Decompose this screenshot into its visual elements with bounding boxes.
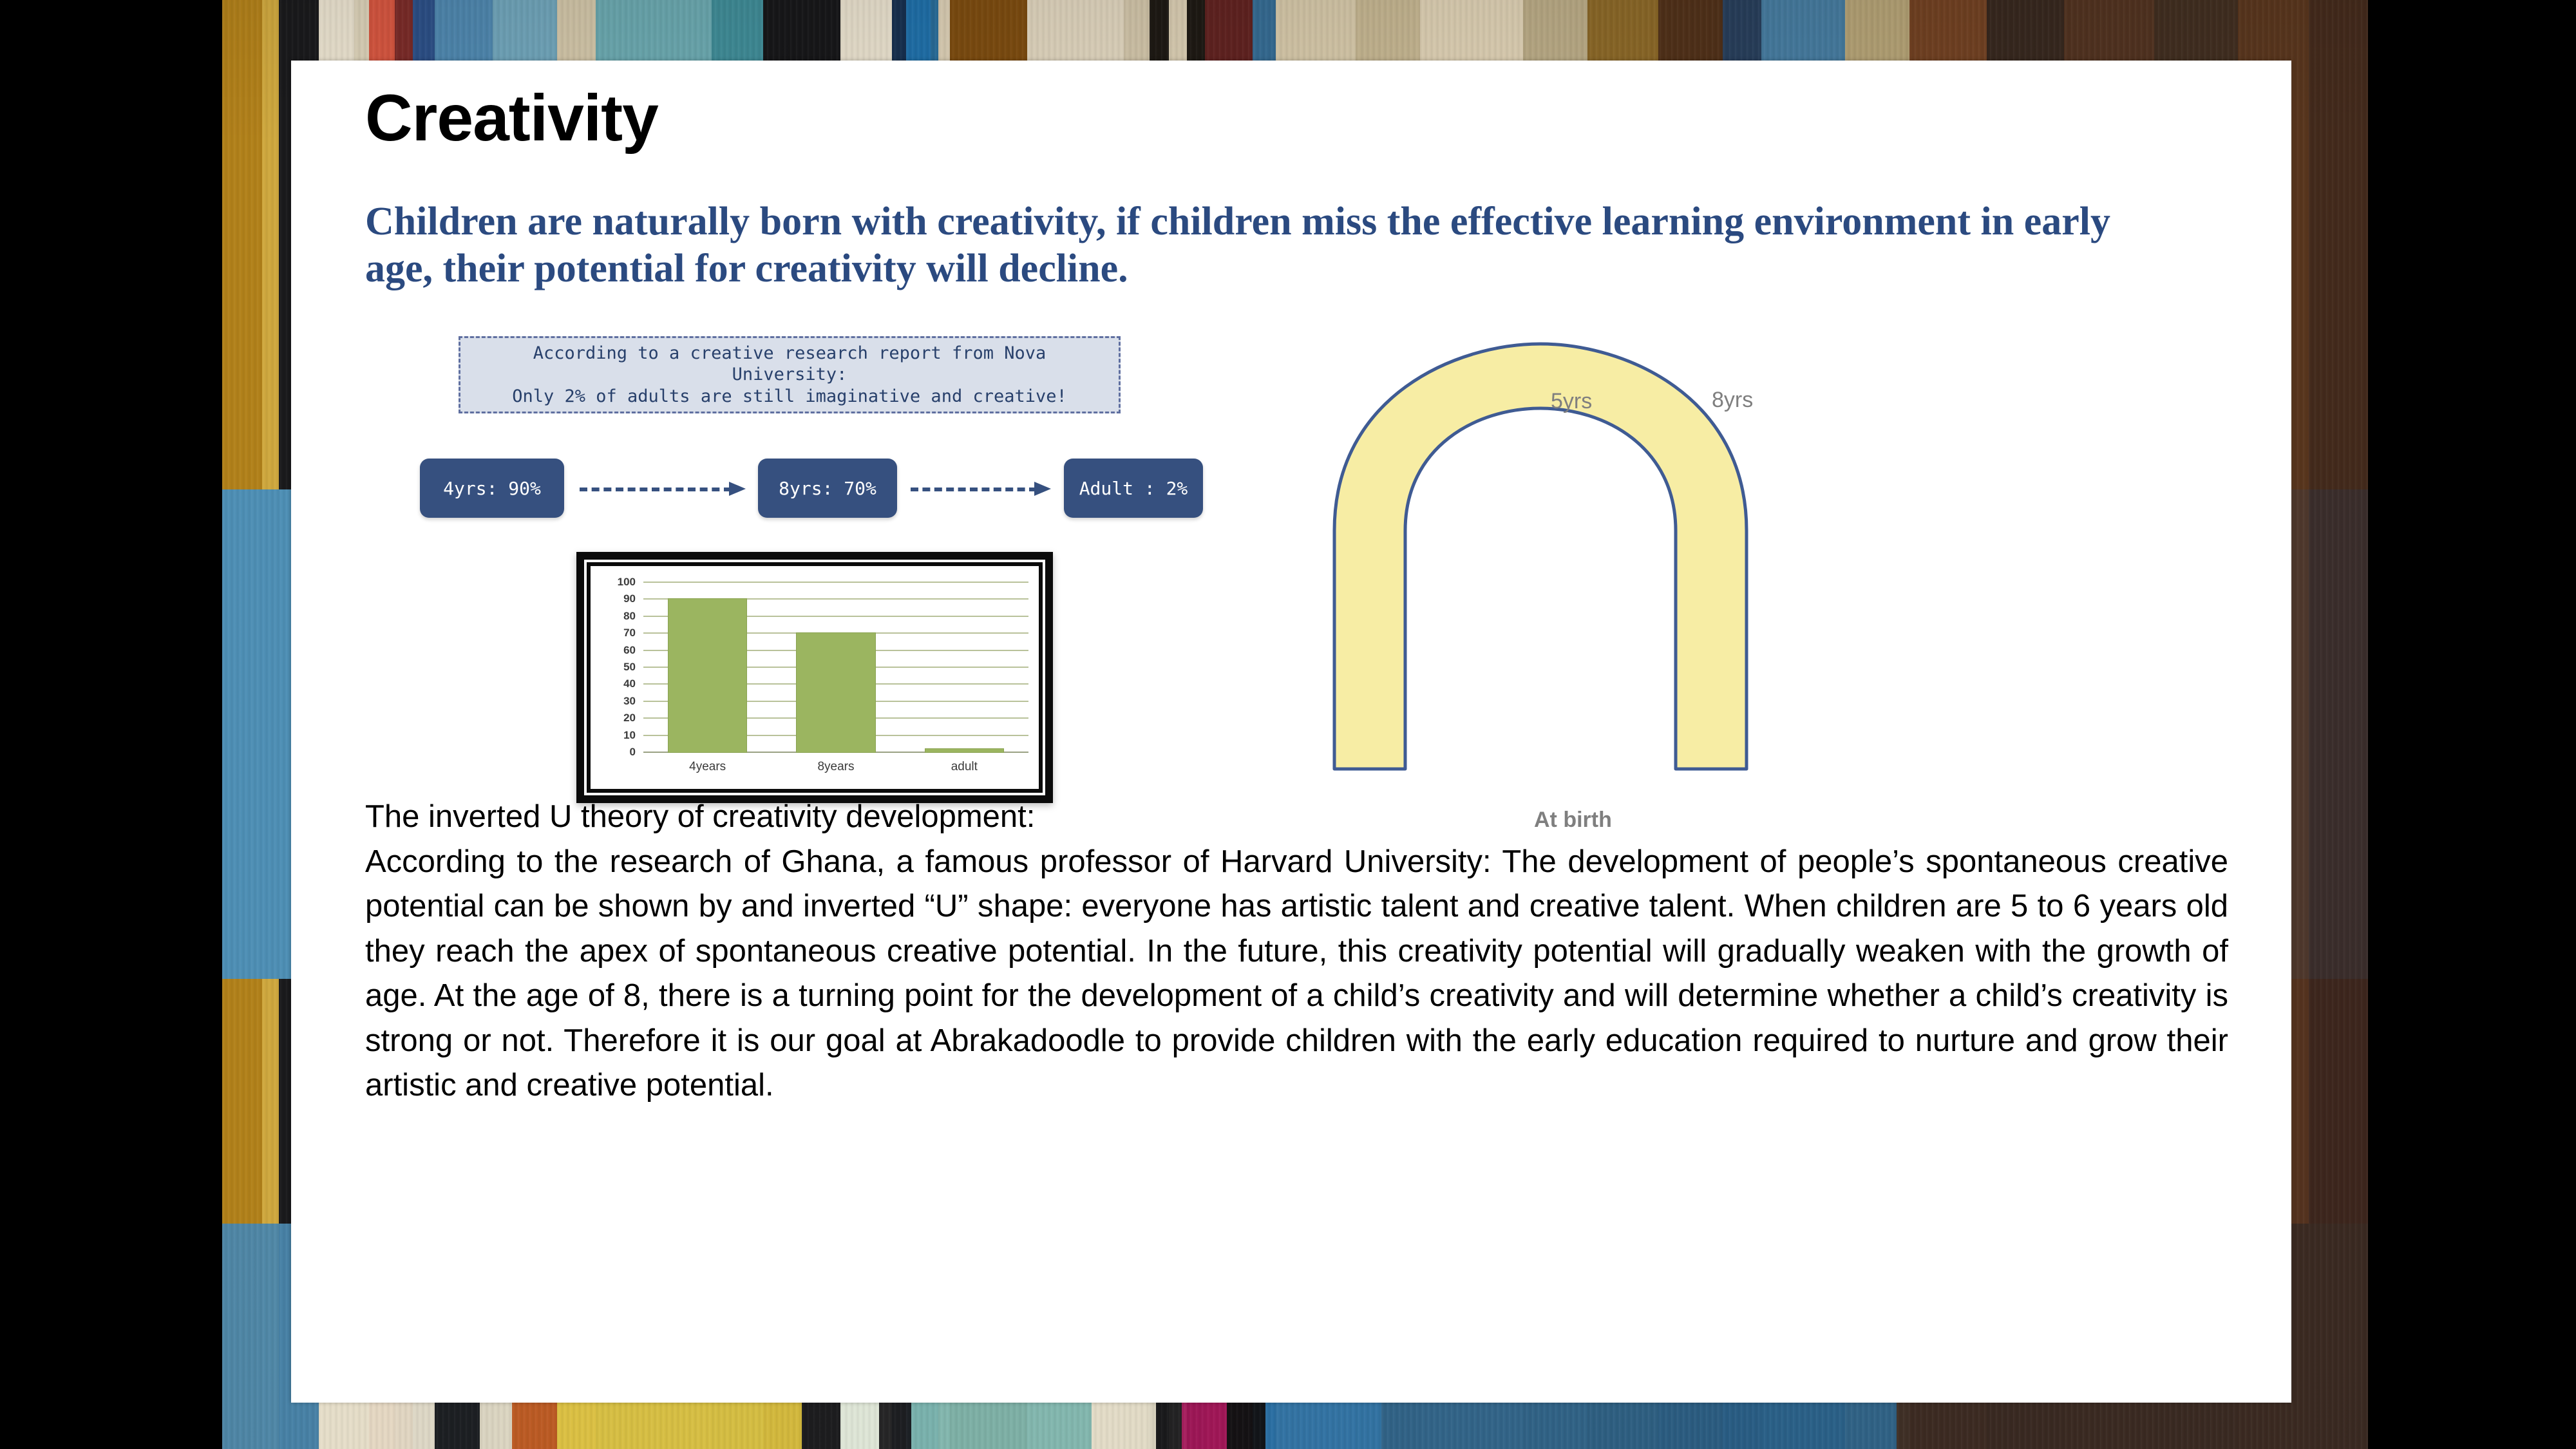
flow-chip-adult[interactable]: Adult : 2%: [1064, 459, 1203, 518]
callout-line-2: University:: [732, 364, 848, 385]
chart-y-tick-label: 20: [623, 712, 636, 724]
callout-line-1: According to a creative research report …: [533, 343, 1046, 364]
slide-subtitle: Children are naturally born with creativ…: [365, 198, 2117, 292]
arch-label-5yrs: 5yrs: [1551, 389, 1592, 414]
slide-stage: Creativity Children are naturally born w…: [0, 0, 2576, 1449]
chart-gridlines: 10090807060504030201004years8yearsadult: [643, 583, 1028, 753]
arrow-right-dashed-icon-2: [911, 482, 1051, 496]
bar-chart: 10090807060504030201004years8yearsadult: [576, 552, 1053, 803]
slide-canvas: Creativity Children are naturally born w…: [291, 61, 2291, 1403]
chart-x-tick-label: 8years: [817, 760, 854, 774]
research-callout-box: According to a creative research report …: [459, 336, 1121, 413]
chart-x-tick-label: adult: [951, 760, 978, 774]
arrow-head: [729, 482, 746, 496]
creativity-decline-flow: 4yrs: 90% 8yrs: 70% Adult : 2%: [420, 459, 1257, 518]
chart-y-tick-label: 100: [618, 576, 636, 589]
inverted-u-diagram: 5yrs 8yrs At birth: [1296, 318, 1785, 808]
arrow-shaft: [580, 488, 732, 491]
chart-y-tick-label: 40: [623, 677, 636, 690]
chart-bar: 4years: [668, 598, 748, 753]
arch-label-8yrs: 8yrs: [1712, 388, 1753, 413]
chart-y-tick-label: 80: [623, 610, 636, 623]
chart-y-tick-label: 10: [623, 729, 636, 742]
body-main-text: According to the research of Ghana, a fa…: [365, 844, 2228, 1103]
flow-chip-4yrs[interactable]: 4yrs: 90%: [420, 459, 564, 518]
chart-x-tick-label: 4years: [689, 760, 726, 774]
arch-shape: [1334, 344, 1747, 769]
chart-gridline: 100: [643, 582, 1028, 583]
chart-plot-area: 10090807060504030201004years8yearsadult: [591, 566, 1039, 789]
chart-y-tick-label: 70: [623, 627, 636, 639]
chart-bar: adult: [925, 748, 1005, 753]
chart-y-tick-label: 90: [623, 592, 636, 605]
arrow-shaft: [911, 488, 1037, 491]
chart-y-tick-label: 0: [630, 746, 636, 759]
chart-y-tick-label: 30: [623, 695, 636, 708]
chart-y-tick-label: 60: [623, 644, 636, 657]
callout-line-3: Only 2% of adults are still imaginative …: [512, 386, 1067, 407]
flow-chip-8yrs[interactable]: 8yrs: 70%: [758, 459, 897, 518]
body-paragraph: The inverted U theory of creativity deve…: [365, 795, 2228, 1108]
page-title: Creativity: [365, 84, 658, 153]
chart-frame-border: 10090807060504030201004years8yearsadult: [584, 560, 1045, 795]
arrow-head: [1034, 482, 1051, 496]
chart-y-tick-label: 50: [623, 661, 636, 674]
body-lead-line: The inverted U theory of creativity deve…: [365, 795, 2228, 840]
chart-bar: 8years: [796, 632, 876, 753]
arrow-right-dashed-icon: [580, 482, 746, 496]
